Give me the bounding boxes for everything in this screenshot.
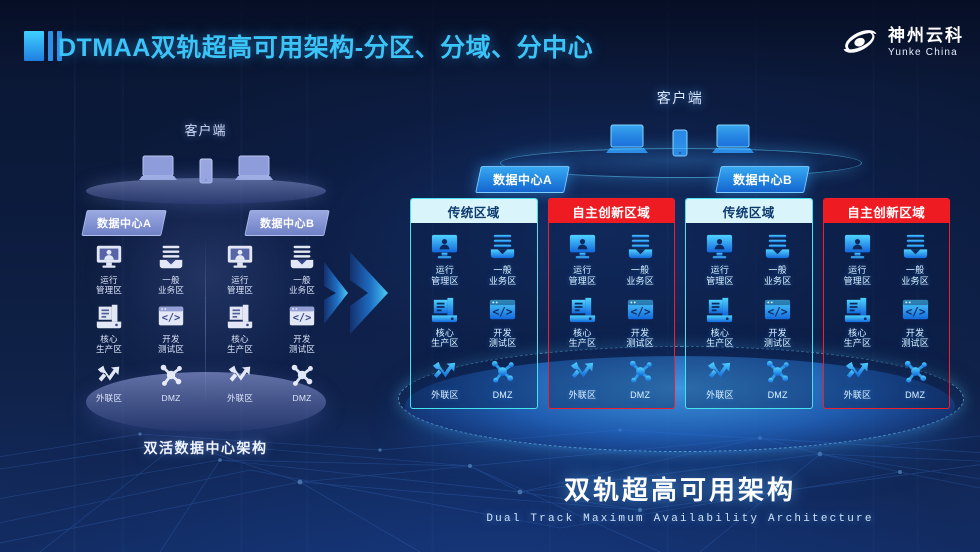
zone-label-line1: 一般	[162, 275, 179, 285]
zone-dev-test: </> 开发测试区	[887, 294, 943, 350]
zone-label-line1: 外联区	[227, 393, 253, 403]
legacy-client-label: 客户端	[78, 120, 333, 139]
legacy-datacenter-b-zones: 运行管理区 一般业务区	[211, 242, 331, 403]
code-window-icon: </>	[487, 294, 518, 325]
zone-label-line2: 生产区	[844, 338, 872, 348]
monitor-person-icon	[704, 231, 735, 262]
node-network-icon	[625, 356, 656, 387]
datacenter-b-badge: 数据中心B	[715, 166, 810, 193]
zone-blocks-row: 传统区域 运行管理区	[400, 198, 960, 409]
zone-label-line1: 一般	[493, 265, 511, 275]
monitor-person-icon	[429, 231, 460, 262]
zone-core-production: 核心生产区	[692, 294, 748, 350]
zone-label-line1: 核心	[231, 334, 248, 344]
zone-core-production: 核心生产区	[417, 294, 473, 350]
legacy-datacenter-a-label: 数据中心A	[97, 215, 151, 231]
zone-label-line2: 业务区	[158, 285, 184, 295]
zone-label-line2: 管理区	[227, 285, 253, 295]
zone-label-line1: DMZ	[905, 390, 925, 400]
tray-inbox-icon	[156, 242, 186, 272]
zone-label-line1: 外联区	[96, 393, 122, 403]
legacy-datacenter-badges: 数据中心A 数据中心B	[78, 210, 333, 236]
dtmaa-architecture-diagram: 客户端 数据中心A 数据中心B	[400, 88, 960, 508]
zone-label-line2: 管理区	[569, 276, 597, 286]
legacy-zone-general-business: 一般业务区	[142, 242, 200, 295]
legacy-diagram-caption: 双活数据中心架构	[78, 438, 333, 458]
zone-label-line2: 业务区	[289, 285, 315, 295]
zone-external: 外联区	[830, 356, 886, 401]
zone-label-line1: DMZ	[161, 393, 180, 403]
zone-grid: 运行管理区 一般业务区	[824, 223, 950, 408]
zone-external: 外联区	[692, 356, 748, 401]
server-document-icon	[94, 301, 124, 331]
datacenter-a-traditional-block: 传统区域 运行管理区	[410, 198, 538, 409]
zone-label-line1: 外联区	[706, 390, 734, 400]
branch-arrows-icon	[842, 356, 873, 387]
zone-label-line1: 运行	[573, 265, 591, 275]
zone-label-line2: 管理区	[706, 276, 734, 286]
brand-name-en: Yunke China	[888, 48, 964, 58]
branch-arrows-icon	[704, 356, 735, 387]
svg-text:</>: </>	[493, 305, 513, 318]
zone-external: 外联区	[555, 356, 611, 401]
zone-dmz: DMZ	[750, 356, 806, 401]
zone-label-line1: DMZ	[493, 390, 513, 400]
zone-dev-test: </> 开发测试区	[475, 294, 531, 350]
architecture-title-en: Dual Track Maximum Availability Architec…	[400, 513, 960, 525]
zone-label-line1: 运行	[848, 265, 866, 275]
tray-inbox-icon	[900, 231, 931, 262]
svg-text:</>: </>	[768, 305, 788, 318]
legacy-zone-external: 外联区	[211, 360, 269, 403]
zone-label-line1: 核心	[100, 334, 117, 344]
zone-external: 外联区	[417, 356, 473, 401]
zone-label-line1: 核心	[436, 328, 454, 338]
zone-ops: 运行管理区	[555, 231, 611, 287]
legacy-datacenter-b-badge: 数据中心B	[244, 210, 330, 236]
zone-label-line1: 开发	[768, 328, 786, 338]
block-title: 自主创新区域	[824, 199, 950, 223]
zone-dmz: DMZ	[475, 356, 531, 401]
page-title: DTMAA双轨超高可用架构-分区、分域、分中心	[58, 28, 593, 64]
zone-label-line1: 一般	[293, 275, 310, 285]
server-document-icon	[842, 294, 873, 325]
datacenter-a-badge: 数据中心A	[475, 166, 570, 193]
tray-inbox-icon	[762, 231, 793, 262]
legacy-zone-dev-test: </> 开发测试区	[142, 301, 200, 354]
zone-label-line2: 测试区	[764, 338, 792, 348]
block-title: 传统区域	[411, 199, 537, 223]
zone-label-line2: 生产区	[706, 338, 734, 348]
zone-dev-test: </> 开发测试区	[612, 294, 668, 350]
legacy-zone-dmz: DMZ	[142, 360, 200, 403]
zone-label-line1: 开发	[162, 334, 179, 344]
code-window-icon: </>	[287, 301, 317, 331]
zone-label-line1: 开发	[906, 328, 924, 338]
legacy-zone-columns: 运行管理区 一般业务区	[78, 242, 333, 403]
zone-core-production: 核心生产区	[555, 294, 611, 350]
node-network-icon	[900, 356, 931, 387]
zone-label-line1: 外联区	[431, 390, 459, 400]
legacy-datacenter-a-badge: 数据中心A	[81, 210, 167, 236]
legacy-zone-ops: 运行管理区	[80, 242, 138, 295]
legacy-zone-dmz: DMZ	[273, 360, 331, 403]
zone-label-line1: 外联区	[844, 390, 872, 400]
zone-label-line1: 运行	[231, 275, 248, 285]
monitor-person-icon	[94, 242, 124, 272]
tray-inbox-icon	[625, 231, 656, 262]
branch-arrows-icon	[94, 360, 124, 390]
zone-label-line2: 测试区	[626, 338, 654, 348]
server-document-icon	[567, 294, 598, 325]
galaxy-spiral-logo-icon	[840, 24, 880, 60]
datacenter-b-traditional-block: 传统区域 运行管理区	[685, 198, 813, 409]
brand-name-cn: 神州云科	[888, 27, 964, 44]
monitor-person-icon	[842, 231, 873, 262]
header: DTMAA双轨超高可用架构-分区、分域、分中心 神州云科 Yunke China	[0, 0, 980, 86]
zone-label-line2: 测试区	[901, 338, 929, 348]
zone-label-line2: 测试区	[158, 344, 184, 354]
zone-core-production: 核心生产区	[830, 294, 886, 350]
node-network-icon	[156, 360, 186, 390]
code-window-icon: </>	[625, 294, 656, 325]
zone-label-line1: 外联区	[569, 390, 597, 400]
zone-label-line1: 核心	[573, 328, 591, 338]
zone-label-line1: 核心	[848, 328, 866, 338]
node-network-icon	[287, 360, 317, 390]
code-window-icon: </>	[762, 294, 793, 325]
architecture-title-cn: 双轨超高可用架构	[400, 470, 960, 507]
architecture-title: 双轨超高可用架构 Dual Track Maximum Availability…	[400, 470, 960, 525]
legacy-zone-ops: 运行管理区	[211, 242, 269, 295]
legacy-zone-core-production: 核心生产区	[80, 301, 138, 354]
zone-label-line2: 业务区	[489, 276, 517, 286]
zone-label-line1: 一般	[768, 265, 786, 275]
legacy-datacenter-a-zones: 运行管理区 一般业务区	[80, 242, 200, 403]
zone-label-line2: 生产区	[431, 338, 459, 348]
zone-label-line2: 管理区	[96, 285, 122, 295]
zone-ops: 运行管理区	[830, 231, 886, 287]
header-accent-bars-icon	[24, 31, 62, 61]
zone-label-line2: 业务区	[626, 276, 654, 286]
zone-label-line1: 一般	[631, 265, 649, 275]
zone-label-line1: DMZ	[630, 390, 650, 400]
zone-label-line2: 生产区	[96, 344, 122, 354]
server-document-icon	[225, 301, 255, 331]
slide-root: DTMAA双轨超高可用架构-分区、分域、分中心 神州云科 Yunke China…	[0, 0, 980, 552]
zone-label-line1: 一般	[906, 265, 924, 275]
brand-logo: 神州云科 Yunke China	[840, 24, 964, 60]
legacy-client-platform	[86, 178, 326, 204]
server-document-icon	[429, 294, 460, 325]
zone-label-line1: 运行	[711, 265, 729, 275]
zone-label-line1: 开发	[493, 328, 511, 338]
monitor-person-icon	[567, 231, 598, 262]
zone-general-business: 一般业务区	[475, 231, 531, 287]
zone-label-line1: 开发	[293, 334, 310, 344]
branch-arrows-icon	[225, 360, 255, 390]
zone-label-line2: 测试区	[289, 344, 315, 354]
server-document-icon	[704, 294, 735, 325]
zone-label-line2: 测试区	[489, 338, 517, 348]
double-chevron-right-icon	[322, 248, 398, 338]
zone-label-line2: 管理区	[431, 276, 459, 286]
zone-label-line2: 业务区	[901, 276, 929, 286]
branch-arrows-icon	[429, 356, 460, 387]
zone-label-line1: DMZ	[292, 393, 311, 403]
datacenter-a-innovation-block: 自主创新区域 运行管理区	[548, 198, 676, 409]
svg-text:</>: </>	[630, 305, 650, 318]
svg-text:</>: </>	[162, 312, 181, 324]
datacenter-a-label: 数据中心A	[493, 171, 552, 188]
zone-label-line2: 生产区	[227, 344, 253, 354]
zone-grid: 运行管理区 一般业务区	[549, 223, 675, 408]
tray-inbox-icon	[287, 242, 317, 272]
zone-ops: 运行管理区	[417, 231, 473, 287]
legacy-datacenter-b-label: 数据中心B	[260, 215, 314, 231]
branch-arrows-icon	[567, 356, 598, 387]
node-network-icon	[762, 356, 793, 387]
zone-label-line1: 运行	[100, 275, 117, 285]
block-title: 传统区域	[686, 199, 812, 223]
zone-grid: 运行管理区 一般业务区	[411, 223, 537, 408]
zone-general-business: 一般业务区	[612, 231, 668, 287]
node-network-icon	[487, 356, 518, 387]
datacenter-b-label: 数据中心B	[733, 171, 792, 188]
legacy-architecture-diagram: 客户端 数据中心A 数据中心B	[78, 120, 333, 470]
zone-grid: 运行管理区 一般业务区	[686, 223, 812, 408]
block-title: 自主创新区域	[549, 199, 675, 223]
legacy-zone-external: 外联区	[80, 360, 138, 403]
zone-label-line1: 核心	[711, 328, 729, 338]
zone-general-business: 一般业务区	[887, 231, 943, 287]
zone-label-line2: 生产区	[569, 338, 597, 348]
zone-dmz: DMZ	[887, 356, 943, 401]
code-window-icon: </>	[900, 294, 931, 325]
svg-text:</>: </>	[293, 312, 312, 324]
svg-text:</>: </>	[905, 305, 925, 318]
zone-label-line2: 管理区	[844, 276, 872, 286]
monitor-person-icon	[225, 242, 255, 272]
zone-dmz: DMZ	[612, 356, 668, 401]
datacenter-b-innovation-block: 自主创新区域 运行管理区	[823, 198, 951, 409]
zone-general-business: 一般业务区	[750, 231, 806, 287]
zone-label-line1: 开发	[631, 328, 649, 338]
zone-ops: 运行管理区	[692, 231, 748, 287]
legacy-zone-core-production: 核心生产区	[211, 301, 269, 354]
zone-label-line1: DMZ	[768, 390, 788, 400]
zone-label-line2: 业务区	[764, 276, 792, 286]
tray-inbox-icon	[487, 231, 518, 262]
code-window-icon: </>	[156, 301, 186, 331]
zone-dev-test: </> 开发测试区	[750, 294, 806, 350]
client-label: 客户端	[400, 88, 960, 108]
zone-label-line1: 运行	[436, 265, 454, 275]
